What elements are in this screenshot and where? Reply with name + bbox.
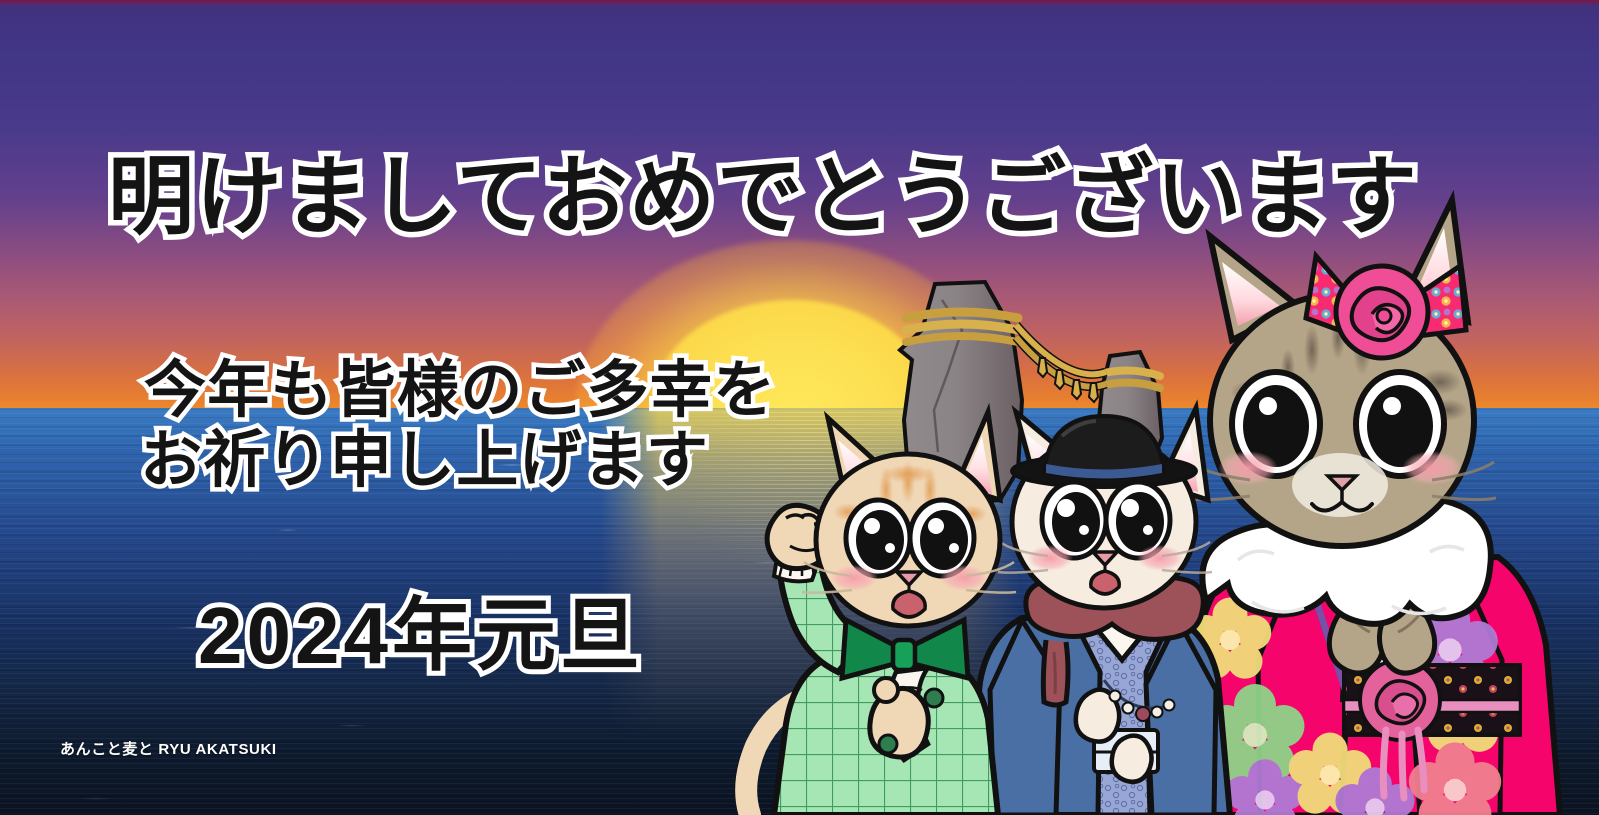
year-label: 2024年元旦 bbox=[198, 594, 644, 679]
wish-line-2: お祈り申し上げます bbox=[140, 428, 709, 494]
artist-signature: あんこと麦と RYU AKATSUKI bbox=[60, 738, 277, 759]
greeting-card: 明けましておめでとうございます 今年も皆様のご多幸を お祈り申し上げます 202… bbox=[0, 0, 1599, 815]
character-left-cat bbox=[737, 412, 1016, 815]
green-bow-tie-icon bbox=[842, 620, 968, 678]
character-right-cat bbox=[1180, 200, 1560, 815]
greeting-title: 明けましておめでとうございます bbox=[108, 152, 1419, 243]
wish-line-1: 今年も皆様のご多幸を bbox=[144, 358, 776, 424]
